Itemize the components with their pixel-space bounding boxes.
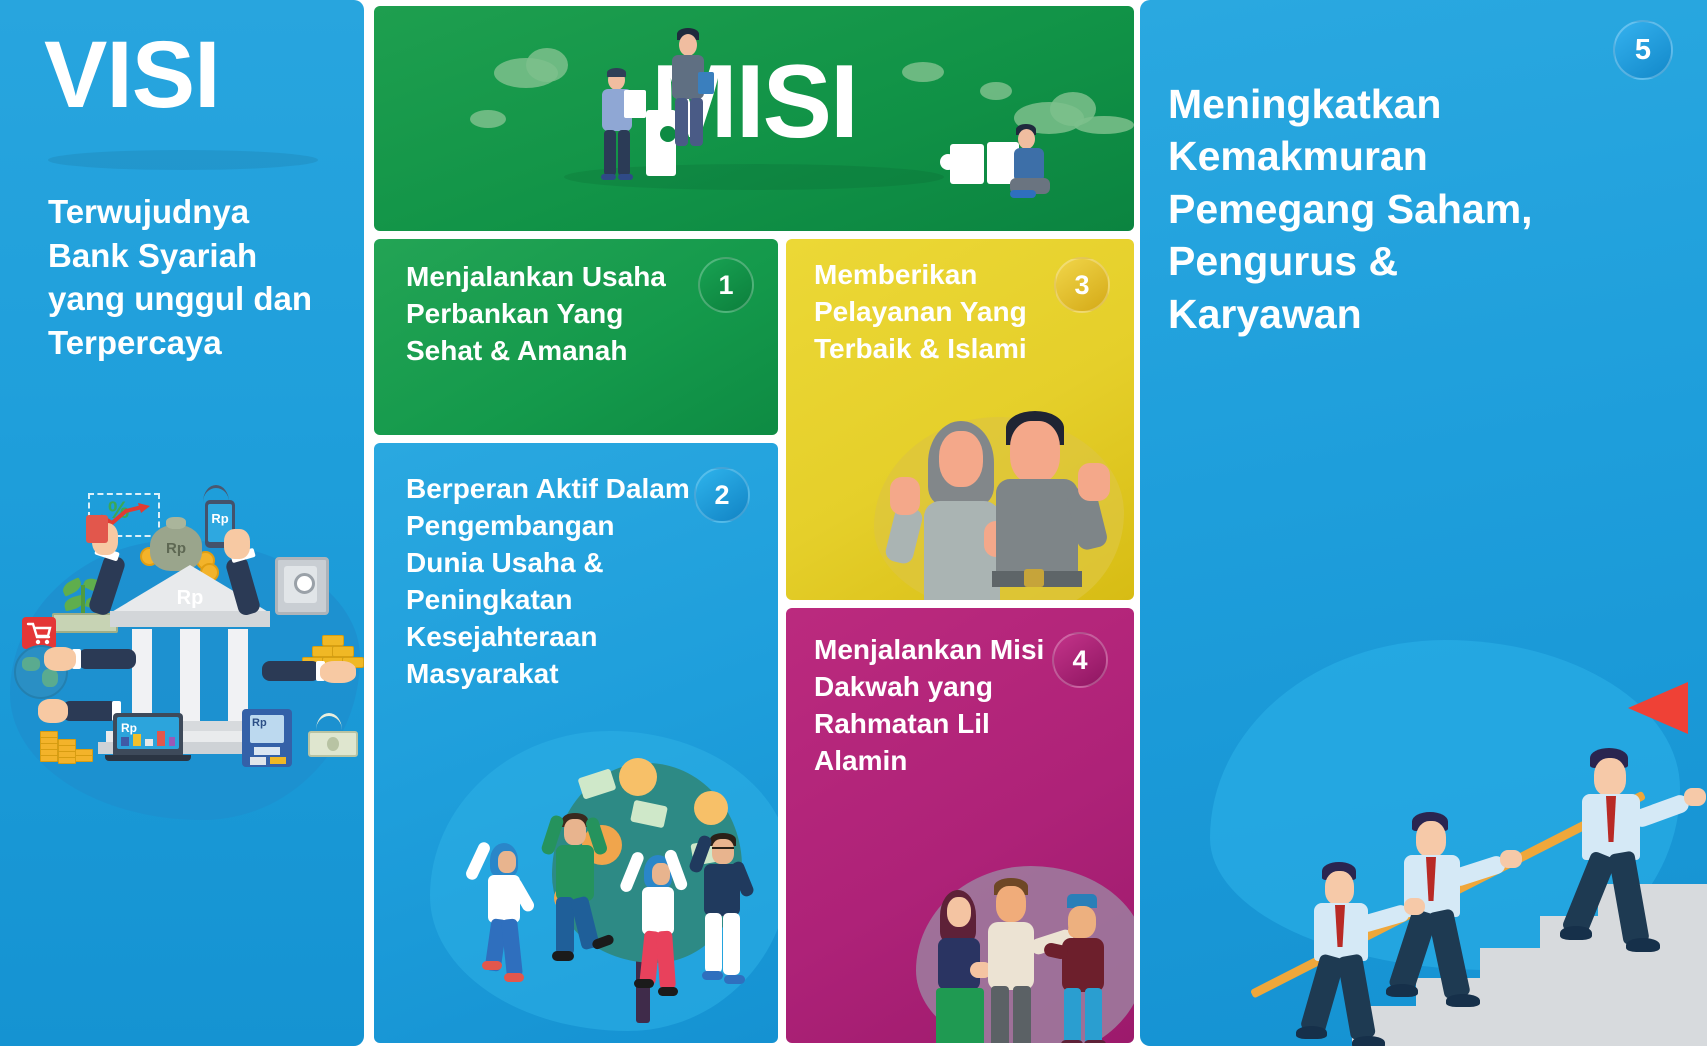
bank-column — [228, 629, 248, 721]
infographic-canvas: VISI Terwujudnya Bank Syariah yang unggu… — [0, 0, 1707, 1046]
gold-bar — [322, 635, 344, 646]
prosperity-panel: Meningkatkan Kemakmuran Pemegang Saham, … — [1140, 0, 1707, 1046]
vision-statement: Terwujudnya Bank Syariah yang unggul dan… — [48, 190, 338, 364]
puzzle-notch — [940, 154, 956, 170]
atm-keypad — [254, 747, 280, 755]
person-leg — [723, 913, 740, 975]
money-bag-rupiah-label: Rp — [150, 540, 202, 557]
business-arm — [62, 701, 118, 721]
person-torso — [1014, 148, 1044, 182]
coin-stack-icon — [40, 725, 88, 765]
person-head — [1594, 758, 1626, 796]
puzzle-notch — [660, 126, 676, 142]
atm-rupiah-label: Rp — [252, 717, 267, 729]
mission-card-4-number-badge: 4 — [1052, 632, 1108, 688]
person-head — [1416, 821, 1446, 857]
person-shoe — [702, 971, 723, 980]
person-shoe — [1560, 926, 1592, 940]
coin-icon — [619, 758, 657, 796]
person-shoe — [1352, 1036, 1385, 1046]
vision-heading: VISI — [44, 28, 220, 123]
raised-fist-icon — [1078, 463, 1110, 501]
person-shoe — [504, 973, 524, 982]
person-torso — [988, 922, 1034, 990]
person-torso — [556, 845, 594, 901]
credit-card-icon — [86, 515, 108, 543]
mission-card-1[interactable]: Menjalankan Usaha Perbankan Yang Sehat &… — [374, 239, 778, 435]
globe-landmass — [42, 669, 58, 687]
globe-landmass — [22, 657, 40, 671]
person-shoe — [1010, 190, 1036, 198]
mission-card-3[interactable]: Memberikan Pelayanan Yang Terbaik & Isla… — [786, 239, 1134, 600]
person-hand — [1404, 898, 1425, 915]
laptop-base — [105, 755, 191, 761]
raised-fist-icon — [890, 477, 920, 515]
money-bag-knot — [166, 517, 186, 529]
person-face — [498, 851, 516, 873]
person-hair — [607, 68, 626, 77]
person-shoe — [1626, 938, 1660, 952]
business-arm — [78, 649, 136, 669]
mission-card-2-number-badge: 2 — [694, 467, 750, 523]
person-skirt — [936, 988, 984, 1043]
person-shoe — [1084, 1040, 1106, 1043]
coin-icon — [694, 791, 728, 825]
person-leg — [675, 98, 688, 146]
person-head — [564, 819, 586, 845]
person-shoe — [634, 979, 654, 988]
goal-flag-icon — [1628, 682, 1688, 734]
person-shoe — [601, 174, 616, 180]
visi-title-shadow — [48, 150, 318, 170]
person-face — [939, 431, 983, 487]
safe-box-icon — [275, 557, 329, 615]
mission-card-4-text: Menjalankan Misi Dakwah yang Rahmatan Li… — [814, 632, 1064, 780]
mission-card-1-number-badge: 1 — [698, 257, 754, 313]
puzzle-piece-icon — [646, 110, 676, 176]
clipboard-icon — [698, 72, 714, 94]
person-head — [679, 34, 697, 56]
person-hand — [1684, 788, 1706, 806]
person-leg — [604, 130, 616, 176]
person-shoe — [482, 961, 502, 970]
prosperity-number-badge: 5 — [1613, 20, 1673, 80]
mission-card-3-text: Memberikan Pelayanan Yang Terbaik & Isla… — [814, 257, 1084, 368]
mission-card-2-text: Berperan Aktif Dalam Pengembangan Dunia … — [406, 471, 696, 693]
person-shoe — [724, 975, 745, 984]
person-shoe — [658, 987, 678, 996]
person-leg — [1337, 953, 1376, 1040]
person-leg — [1013, 986, 1031, 1043]
person-shoe — [552, 951, 574, 961]
atm-machine-icon: Rp — [242, 709, 292, 767]
bank-column — [180, 629, 200, 721]
whiteboard-icon — [624, 90, 646, 118]
banking-services-illustration: % Rp Rp — [0, 485, 364, 885]
mission-card-1-text: Menjalankan Usaha Perbankan Yang Sehat &… — [406, 259, 706, 370]
gold-bar — [312, 646, 334, 657]
person-shoe — [1296, 1026, 1327, 1039]
laptop-rupiah-label: Rp — [121, 721, 137, 735]
gold-bar — [332, 646, 354, 657]
person-head — [1068, 906, 1096, 938]
laptop-analytics-icon: Rp — [113, 713, 183, 757]
person-shoe — [1446, 994, 1480, 1007]
person-head — [1018, 129, 1035, 149]
person-leg — [690, 98, 703, 146]
person-head — [1325, 871, 1354, 905]
mission-banner: MISI — [374, 6, 1134, 231]
hand-pointing-cart — [44, 647, 76, 671]
cash-stack-icon — [52, 613, 118, 633]
person-torso — [1062, 938, 1104, 992]
person-shoe — [1386, 984, 1418, 997]
open-hand-receiving-gold — [320, 661, 356, 683]
person-hand — [1500, 850, 1522, 868]
bank-column — [132, 629, 152, 721]
person-leg — [705, 913, 722, 973]
person-shoe — [618, 174, 633, 180]
phone-rupiah-label: Rp — [205, 511, 235, 526]
business-arm — [262, 661, 320, 681]
person-face — [947, 897, 971, 927]
hand-pointing-phone — [224, 529, 250, 559]
banknote-icon — [308, 731, 358, 757]
prosperity-text: Meningkatkan Kemakmuran Pemegang Saham, … — [1168, 78, 1598, 340]
person-head — [1010, 421, 1060, 483]
mission-card-2[interactable]: Berperan Aktif Dalam Pengembangan Dunia … — [374, 443, 778, 1043]
glasses-icon — [712, 847, 734, 854]
mission-card-3-number-badge: 3 — [1054, 257, 1110, 313]
person-leg — [618, 130, 630, 176]
person-leg — [991, 986, 1009, 1043]
person-torso — [642, 887, 674, 935]
person-leg — [1064, 988, 1081, 1043]
mission-card-4[interactable]: Menjalankan Misi Dakwah yang Rahmatan Li… — [786, 608, 1134, 1043]
safe-dial-icon — [294, 573, 315, 594]
belt-buckle-icon — [1024, 569, 1044, 587]
vision-panel: VISI Terwujudnya Bank Syariah yang unggu… — [0, 0, 364, 1046]
person-head — [996, 886, 1026, 922]
hand-stacking-coins — [38, 699, 68, 723]
person-shoe — [1061, 1040, 1083, 1043]
person-leg — [1085, 988, 1102, 1043]
